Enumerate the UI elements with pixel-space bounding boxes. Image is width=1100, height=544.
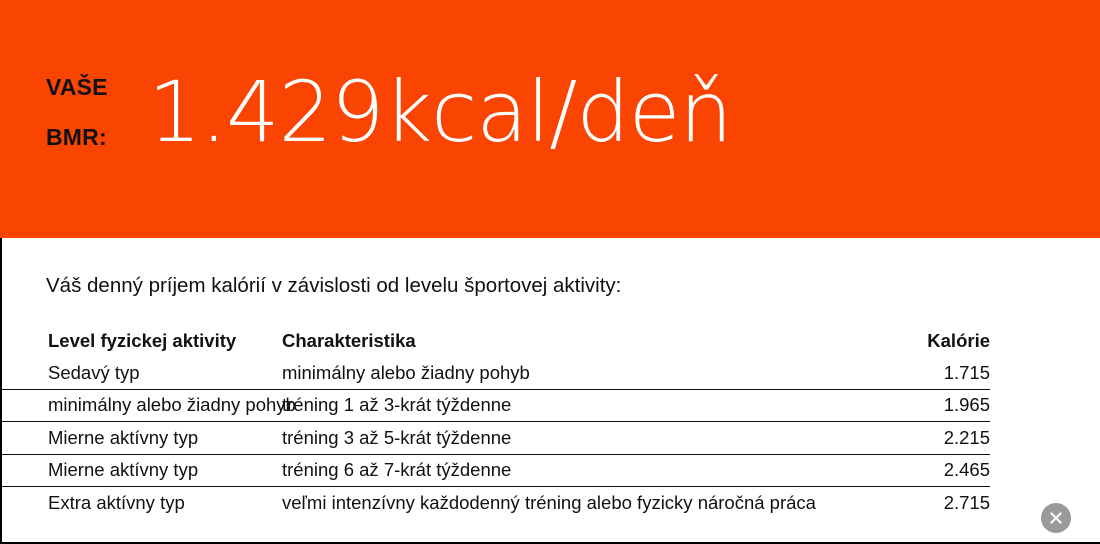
cell-calories: 2.715	[874, 487, 990, 519]
cell-characteristic: minimálny alebo žiadny pohyb	[282, 357, 874, 389]
bmr-banner: VAŠE BMR: 1.429kcal/deň	[0, 0, 1100, 238]
close-icon	[1041, 503, 1071, 533]
table-row: minimálny alebo žiadny pohyb tréning 1 a…	[2, 389, 990, 422]
table-row: Extra aktívny typ veľmi intenzívny každo…	[2, 487, 990, 519]
bmr-value: 1.429kcal/deň	[148, 62, 732, 162]
cell-characteristic: veľmi intenzívny každodenný tréning aleb…	[282, 487, 874, 519]
table-header-row: Level fyzickej aktivity Charakteristika …	[2, 325, 990, 357]
cell-calories: 1.965	[874, 389, 990, 422]
activity-table-body: Sedavý typ minimálny alebo žiadny pohyb …	[2, 357, 990, 519]
cell-calories: 1.715	[874, 357, 990, 389]
cell-level: Mierne aktívny typ	[2, 422, 282, 455]
bmr-label-line1: VAŠE	[46, 62, 146, 112]
bmr-label-line2: BMR:	[46, 112, 146, 162]
activity-table-head: Level fyzickej aktivity Charakteristika …	[2, 325, 990, 357]
bmr-banner-inner: VAŠE BMR: 1.429kcal/deň	[46, 62, 732, 162]
activity-table: Level fyzickej aktivity Charakteristika …	[2, 325, 990, 519]
column-header-level: Level fyzickej aktivity	[2, 325, 282, 357]
table-row: Mierne aktívny typ tréning 6 až 7-krát t…	[2, 454, 990, 487]
cell-level: minimálny alebo žiadny pohyb	[2, 389, 282, 422]
column-header-calories: Kalórie	[874, 325, 990, 357]
close-button[interactable]	[1041, 503, 1071, 533]
cell-calories: 2.215	[874, 422, 990, 455]
bmr-label: VAŠE BMR:	[46, 62, 146, 162]
cell-calories: 2.465	[874, 454, 990, 487]
table-row: Sedavý typ minimálny alebo žiadny pohyb …	[2, 357, 990, 389]
column-header-characteristic: Charakteristika	[282, 325, 874, 357]
cell-level: Mierne aktívny typ	[2, 454, 282, 487]
activity-table-wrapper: Level fyzickej aktivity Charakteristika …	[2, 325, 990, 519]
cell-level: Sedavý typ	[2, 357, 282, 389]
page-root: VAŠE BMR: 1.429kcal/deň Váš denný príjem…	[0, 0, 1100, 544]
cell-characteristic: tréning 6 až 7-krát týždenne	[282, 454, 874, 487]
table-row: Mierne aktívny typ tréning 3 až 5-krát t…	[2, 422, 990, 455]
content-subtitle: Váš denný príjem kalórií v závislosti od…	[46, 274, 621, 298]
cell-characteristic: tréning 3 až 5-krát týždenne	[282, 422, 874, 455]
cell-characteristic: tréning 1 až 3-krát týždenne	[282, 389, 874, 422]
cell-level: Extra aktívny typ	[2, 487, 282, 519]
content-panel: Váš denný príjem kalórií v závislosti od…	[0, 238, 1100, 544]
